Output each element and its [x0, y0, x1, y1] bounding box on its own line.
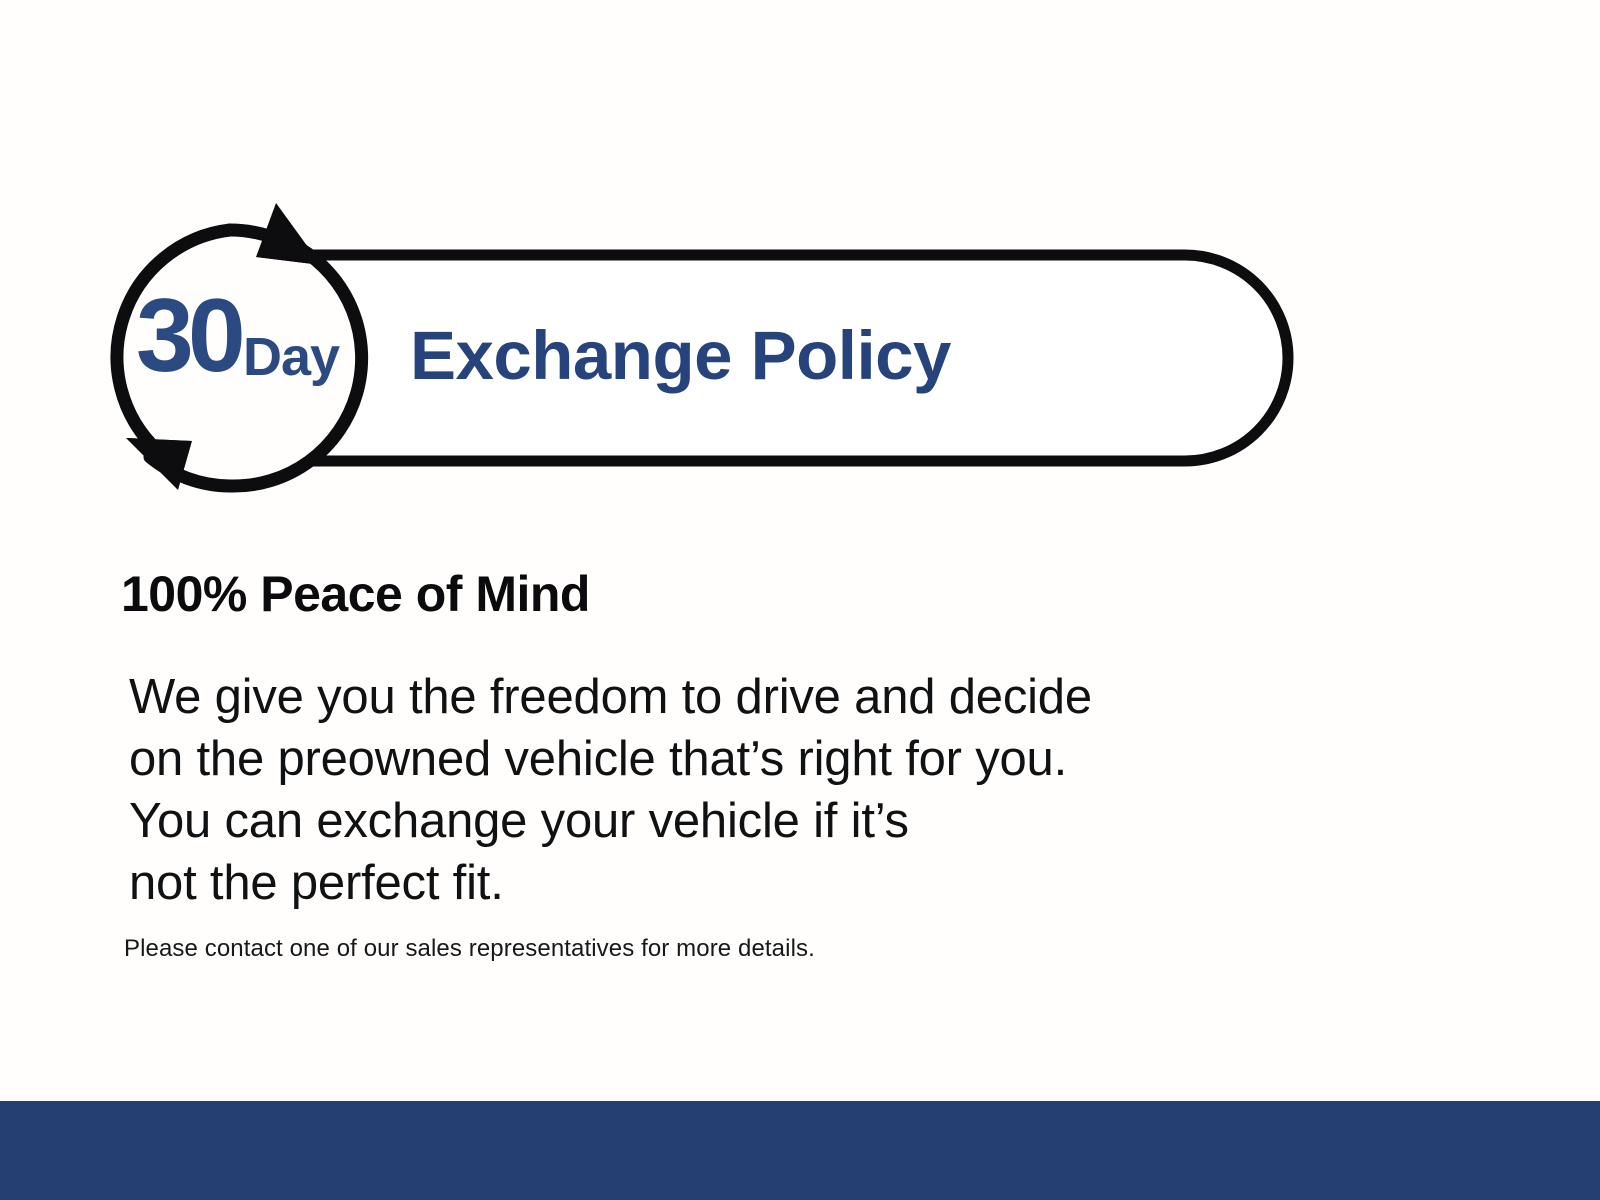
policy-content: 100% Peace of Mind We give you the freed…: [0, 0, 1600, 1100]
disclaimer-text: Please contact one of our sales represen…: [124, 935, 815, 963]
section-headline: 100% Peace of Mind: [121, 567, 590, 622]
paragraph-line: You can exchange your vehicle if it’s: [129, 790, 1349, 852]
policy-description: We give you the freedom to drive and dec…: [129, 666, 1349, 914]
paragraph-line: We give you the freedom to drive and dec…: [129, 666, 1349, 728]
paragraph-line: not the perfect fit.: [129, 852, 1349, 914]
paragraph-line: on the preowned vehicle that’s right for…: [129, 728, 1349, 790]
footer-band: [0, 1101, 1600, 1200]
